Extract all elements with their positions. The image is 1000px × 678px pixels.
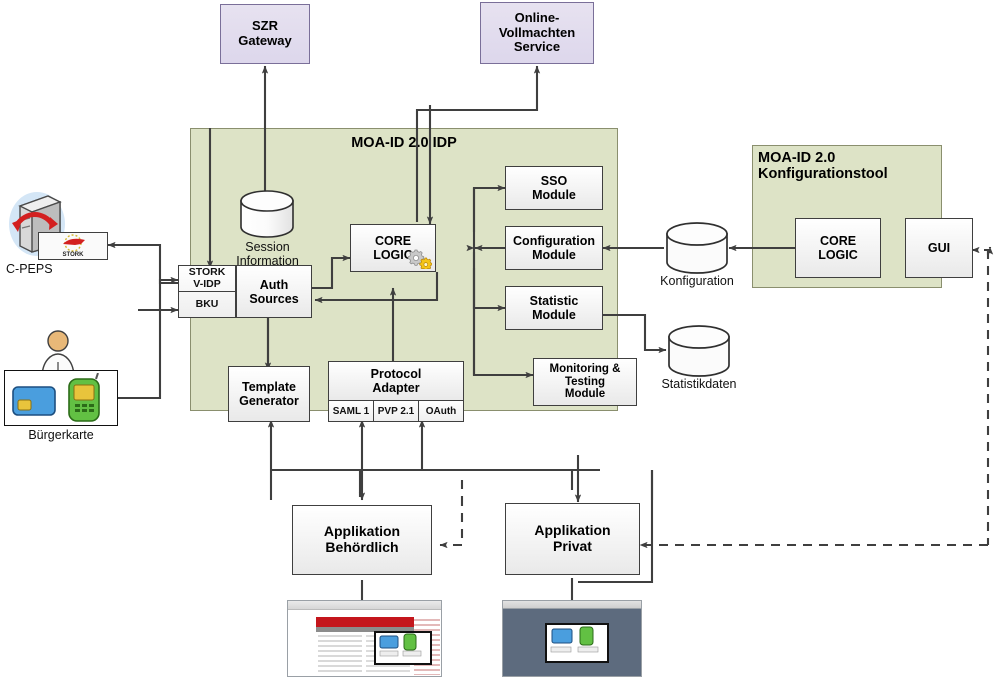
protocol-cell-oauth[interactable]: OAuth bbox=[418, 400, 464, 422]
stork-logo-icon: STORK bbox=[47, 234, 99, 258]
gears-icon bbox=[406, 247, 432, 269]
szr-gateway-box[interactable]: SZR Gateway bbox=[220, 4, 310, 64]
online-vollmachten-service-box[interactable]: Online- Vollmachten Service bbox=[480, 2, 594, 64]
konfigtool-core-logic-box[interactable]: CORE LOGIC bbox=[795, 218, 881, 278]
mobile-phone-icon bbox=[69, 373, 99, 421]
session-information-label: Session Information bbox=[215, 240, 320, 268]
buergerkarte-label: Bürgerkarte bbox=[2, 428, 120, 442]
browser-screenshot-privat[interactable] bbox=[502, 600, 642, 677]
statistikdaten-datastore bbox=[666, 325, 732, 377]
konfigtool-title: MOA-ID 2.0 Konfigurationstool bbox=[758, 150, 938, 182]
auth-protocol-stack: STORK V-IDP BKU bbox=[178, 265, 236, 318]
monitoring-testing-module-box[interactable]: Monitoring & Testing Module bbox=[533, 358, 637, 406]
bku-selection-dialog-privat bbox=[545, 623, 609, 663]
configuration-module-box[interactable]: Configuration Module bbox=[505, 226, 603, 270]
auth-sources-box[interactable]: Auth Sources bbox=[236, 265, 312, 318]
protocol-adapter-box[interactable]: Protocol Adapter bbox=[328, 361, 464, 401]
protocol-cell-pvp21[interactable]: PVP 2.1 bbox=[373, 400, 419, 422]
browser-screenshot-behoerdlich[interactable] bbox=[287, 600, 442, 677]
architecture-diagram: MOA-ID 2.0 IDP MOA-ID 2.0 Konfigurations… bbox=[0, 0, 1000, 678]
protocol-adapter-cells: SAML 1 PVP 2.1 OAuth bbox=[328, 400, 464, 422]
sso-module-box[interactable]: SSO Module bbox=[505, 166, 603, 210]
idp-title: MOA-ID 2.0 IDP bbox=[190, 135, 618, 151]
bku-cell[interactable]: BKU bbox=[179, 291, 235, 317]
c-peps-stork-box: STORK bbox=[38, 232, 108, 260]
svg-text:STORK: STORK bbox=[63, 252, 85, 258]
konfiguration-label: Konfiguration bbox=[640, 274, 754, 288]
core-logic-box[interactable]: CORE LOGIC bbox=[350, 224, 436, 272]
bku-selection-dialog bbox=[374, 631, 432, 665]
applikation-behoerdlich-box[interactable]: Applikation Behördlich bbox=[292, 505, 432, 575]
c-peps-label: C-PEPS bbox=[0, 262, 110, 276]
template-generator-box[interactable]: Template Generator bbox=[228, 366, 310, 422]
statistikdaten-label: Statistikdaten bbox=[638, 377, 760, 391]
stork-vidp-cell[interactable]: STORK V-IDP bbox=[179, 266, 235, 291]
applikation-privat-box[interactable]: Applikation Privat bbox=[505, 503, 640, 575]
konfigtool-gui-box[interactable]: GUI bbox=[905, 218, 973, 278]
smartcard-icon bbox=[13, 387, 55, 415]
protocol-cell-saml1[interactable]: SAML 1 bbox=[328, 400, 374, 422]
konfiguration-datastore bbox=[664, 222, 730, 274]
statistic-module-box[interactable]: Statistic Module bbox=[505, 286, 603, 330]
session-information-datastore bbox=[238, 190, 296, 238]
buergerkarte-box bbox=[4, 370, 118, 426]
